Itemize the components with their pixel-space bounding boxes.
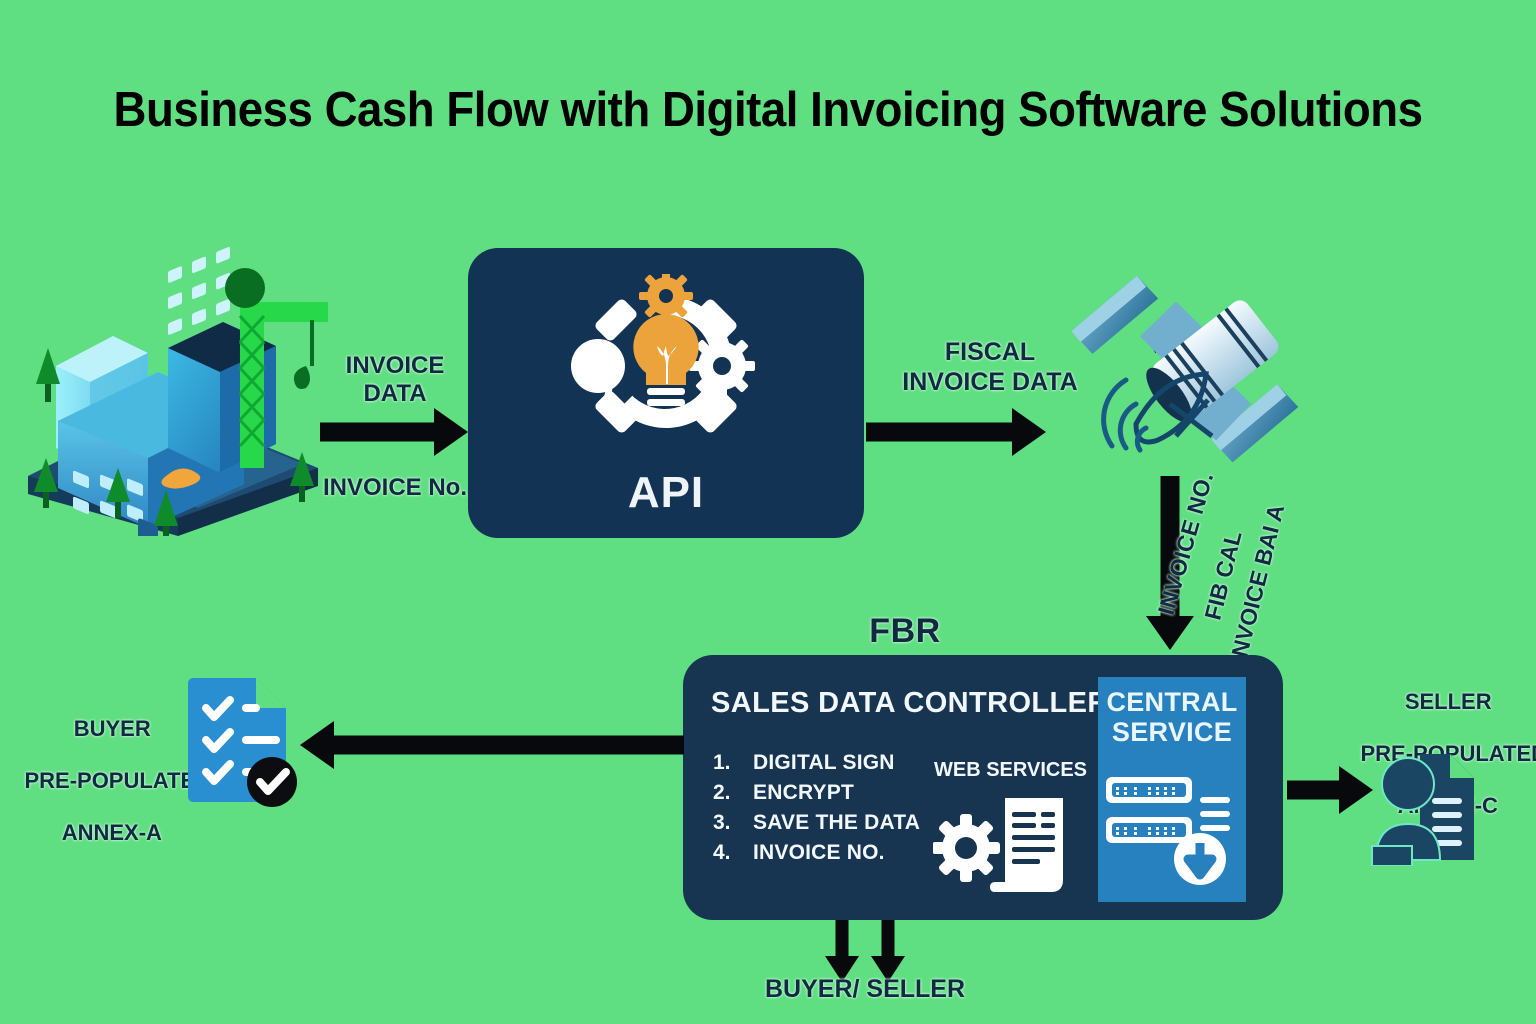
diagram-canvas: Business Cash Flow with Digital Invoicin… — [0, 0, 1536, 1024]
step-number: 4. — [713, 841, 753, 865]
central-service-line2: SERVICE — [1112, 717, 1232, 747]
step-number: 1. — [713, 751, 753, 775]
list-item: 1. DIGITAL SIGN — [713, 751, 920, 775]
central-service-panel[interactable]: CENTRAL SERVICE — [1098, 677, 1246, 902]
step-text: INVOICE NO. — [753, 841, 885, 865]
invoice-no-label: INVOICE No. — [300, 474, 490, 502]
fbr-label: FBR — [795, 612, 1015, 651]
buyer-output-label: BUYER PRE-POPULATED ANNEX-A — [0, 690, 200, 872]
step-text: ENCRYPT — [753, 781, 854, 805]
step-text: SAVE THE DATA — [753, 811, 920, 835]
step-number: 3. — [713, 811, 753, 835]
api-label: API — [468, 468, 864, 518]
office-building-icon — [18, 236, 328, 536]
sales-data-controller-title: SALES DATA CONTROLLER — [711, 687, 1109, 720]
page-title: Business Cash Flow with Digital Invoicin… — [54, 82, 1482, 138]
buyer-seller-label: BUYER/ SELLER — [730, 975, 1000, 1005]
central-service-label: CENTRAL SERVICE — [1098, 687, 1246, 747]
person-document-icon — [1370, 746, 1480, 866]
fbr-steps-list: 1. DIGITAL SIGN 2. ENCRYPT 3. SAVE THE D… — [713, 751, 920, 871]
web-services-icons — [933, 790, 1078, 900]
step-number: 2. — [713, 781, 753, 805]
buyer-line3: ANNEX-A — [62, 820, 162, 845]
fbr-card[interactable]: SALES DATA CONTROLLER 1. DIGITAL SIGN 2.… — [683, 655, 1283, 920]
server-rack-download-icon — [1104, 769, 1240, 887]
central-service-line1: CENTRAL — [1106, 687, 1237, 717]
buyer-line1: BUYER — [74, 716, 151, 741]
api-card[interactable]: API — [468, 248, 864, 538]
invoice-data-label: INVOICE DATA — [300, 352, 490, 409]
step-text: DIGITAL SIGN — [753, 751, 895, 775]
document-icon — [990, 798, 1063, 892]
list-item: 4. INVOICE NO. — [713, 841, 920, 865]
list-item: 2. ENCRYPT — [713, 781, 920, 805]
checklist-document-verified-icon — [186, 672, 302, 808]
list-item: 3. SAVE THE DATA — [713, 811, 920, 835]
web-services-title: WEB SERVICES — [934, 759, 1087, 782]
api-gear-lightbulb-icon — [556, 274, 776, 459]
seller-line1: SELLER — [1405, 689, 1492, 714]
satellite-icon — [1060, 258, 1320, 508]
buyer-line2: PRE-POPULATED — [24, 768, 211, 793]
